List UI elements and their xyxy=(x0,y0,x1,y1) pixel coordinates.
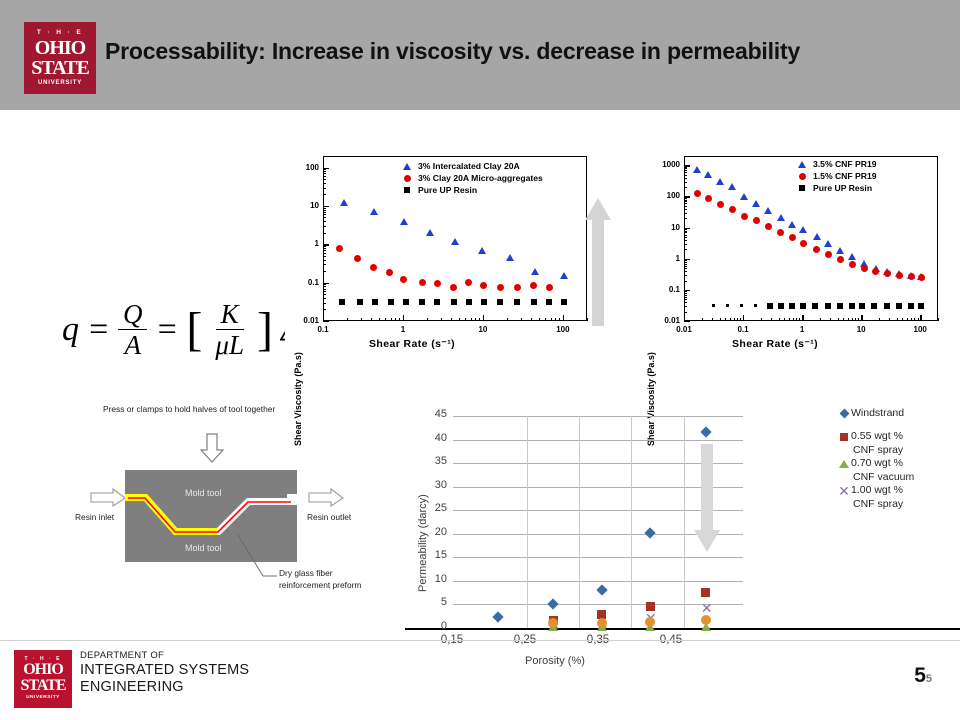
axis-minor-tick xyxy=(684,198,687,199)
chart1-legend-item-1: 3% Clay 20A Micro-aggregates xyxy=(400,172,543,184)
axis-minor-tick xyxy=(918,318,919,321)
axis-minor-tick xyxy=(820,318,821,321)
square-icon xyxy=(400,187,414,193)
mold-tool-label-bottom: Mold tool xyxy=(185,543,222,553)
axis-minor-tick xyxy=(323,303,326,304)
chart3-vertical-tick xyxy=(527,416,528,628)
equation-right-bracket: ] xyxy=(257,302,273,357)
axis-minor-tick xyxy=(897,318,898,321)
axis-tick xyxy=(483,315,484,321)
chart3-legend-item-3: ✕ 1.00 wgt % xyxy=(837,484,957,497)
axis-minor-tick xyxy=(737,318,738,321)
viscosity-cnf-point xyxy=(712,304,715,307)
axis-tick xyxy=(563,315,564,321)
axis-tick xyxy=(684,315,685,321)
axis-minor-tick xyxy=(399,318,400,321)
chart2-legend-label-1: 1.5% CNF PR19 xyxy=(813,171,877,181)
resin-outlet-label: Resin outlet xyxy=(307,512,351,522)
axis-tick xyxy=(743,315,744,321)
viscosity-clay-point xyxy=(514,299,520,305)
viscosity-cnf-x-tick: 10 xyxy=(845,325,877,334)
viscosity-cnf-y-tick: 10 xyxy=(648,223,680,232)
axis-minor-tick xyxy=(323,188,326,189)
viscosity-clay-x-tick: 10 xyxy=(467,325,499,334)
axis-tick xyxy=(861,315,862,321)
chart3-legend-label-1a: 0.55 wgt % xyxy=(851,430,903,443)
viscosity-cnf-point xyxy=(799,226,807,233)
axis-minor-tick xyxy=(545,318,546,321)
axis-minor-tick xyxy=(796,318,797,321)
axis-minor-tick xyxy=(889,318,890,321)
chart3-x-axis xyxy=(405,628,960,630)
axis-minor-tick xyxy=(684,187,687,188)
axis-minor-tick xyxy=(507,318,508,321)
viscosity-cnf-point xyxy=(812,303,818,309)
viscosity-cnf-point xyxy=(741,213,748,220)
axis-minor-tick xyxy=(684,167,687,168)
viscosity-cnf-point xyxy=(849,303,855,309)
chart3-point xyxy=(548,598,559,609)
viscosity-cnf-point xyxy=(693,166,701,173)
viscosity-clay-point xyxy=(514,284,521,291)
chart3-y-tick: 35 xyxy=(421,455,447,467)
axis-minor-tick xyxy=(848,318,849,321)
circle-icon xyxy=(795,173,809,180)
chart1-legend-item-0: 3% Intercalated Clay 20A xyxy=(400,160,543,172)
viscosity-clay-point xyxy=(336,245,343,252)
axis-minor-tick xyxy=(684,200,687,201)
axis-minor-tick xyxy=(684,291,687,292)
viscosity-cnf-point xyxy=(705,195,712,202)
viscosity-cnf-point xyxy=(824,240,832,247)
viscosity-clay-point xyxy=(419,299,425,305)
axis-minor-tick xyxy=(684,206,687,207)
axis-minor-tick xyxy=(684,271,687,272)
viscosity-cnf-point xyxy=(836,247,844,254)
axis-minor-tick xyxy=(684,275,687,276)
chart-viscosity-clay: Shear Viscosity (Pa.s) 3% Intercalated C… xyxy=(285,148,600,363)
viscosity-cnf-point xyxy=(777,214,785,221)
viscosity-clay-point xyxy=(561,299,567,305)
viscosity-clay-point xyxy=(497,284,504,291)
ohio-state-logo: T · H · E OHIO STATE UNIVERSITY xyxy=(24,22,96,94)
equation-fraction-q-over-a: Q A xyxy=(118,300,148,360)
viscosity-clay-point xyxy=(426,229,434,236)
axis-minor-tick xyxy=(684,172,687,173)
chart3-y-tick: 15 xyxy=(421,549,447,561)
viscosity-clay-point xyxy=(530,282,537,289)
viscosity-cnf-point xyxy=(767,303,773,309)
axis-minor-tick xyxy=(451,318,452,321)
chart2-legend-item-2: Pure UP Resin xyxy=(795,182,877,194)
viscosity-clay-point xyxy=(400,218,408,225)
axis-minor-tick xyxy=(902,318,903,321)
viscosity-cnf-x-tick: 0.1 xyxy=(727,325,759,334)
viscosity-clay-point xyxy=(372,299,378,305)
axis-minor-tick xyxy=(684,295,687,296)
viscosity-clay-point xyxy=(400,276,407,283)
chart3-legend-label-3b: CNF spray xyxy=(853,498,957,511)
viscosity-cnf-y-tick: 1000 xyxy=(648,160,680,169)
viscosity-cnf-y-tick: 100 xyxy=(648,191,680,200)
axis-minor-tick xyxy=(559,318,560,321)
axis-minor-tick xyxy=(771,318,772,321)
chart3-y-tick: 45 xyxy=(421,408,447,420)
logo-university: UNIVERSITY xyxy=(38,80,82,86)
axis-tick xyxy=(323,321,329,322)
axis-minor-tick xyxy=(799,318,800,321)
preform-label-line1: Dry glass fiber xyxy=(279,568,333,578)
viscosity-cnf-point xyxy=(896,303,902,309)
viscosity-clay-point xyxy=(478,247,486,254)
page-number-shadow: 5 xyxy=(926,673,932,685)
axis-minor-tick xyxy=(684,235,687,236)
chart3-legend-label-0: Windstrand xyxy=(851,407,904,420)
chart3-vertical-tick xyxy=(684,416,685,628)
viscosity-cnf-point xyxy=(837,256,844,263)
axis-minor-tick xyxy=(323,210,326,211)
viscosity-cnf-y-tick: 0.01 xyxy=(648,316,680,325)
dept-line-1: DEPARTMENT OF xyxy=(80,650,249,661)
chart2-legend-label-2: Pure UP Resin xyxy=(813,183,872,193)
equation-denominator-mul: μL xyxy=(210,330,249,359)
viscosity-cnf-point xyxy=(789,234,796,241)
axis-minor-tick xyxy=(471,318,472,321)
axis-minor-tick xyxy=(323,208,326,209)
viscosity-clay-point xyxy=(451,299,457,305)
chart3-legend-label-1b: CNF spray xyxy=(853,444,957,457)
axis-minor-tick xyxy=(323,156,326,157)
axis-minor-tick xyxy=(830,318,831,321)
chart3-x-axis-title: Porosity (%) xyxy=(525,655,585,667)
footer-logo-state: STATE xyxy=(20,678,65,694)
axis-minor-tick xyxy=(734,318,735,321)
chart1-legend-label-0: 3% Intercalated Clay 20A xyxy=(418,161,520,171)
chart3-y-tick: 5 xyxy=(421,596,447,608)
axis-minor-tick xyxy=(684,168,687,169)
viscosity-cnf-point xyxy=(884,270,891,277)
x-marker-icon: ✕ xyxy=(837,484,851,497)
viscosity-clay-point xyxy=(546,284,553,291)
chart2-x-axis-title: Shear Rate (s⁻¹) xyxy=(732,338,818,350)
axis-minor-tick xyxy=(684,218,687,219)
axis-minor-tick xyxy=(761,318,762,321)
viscosity-cnf-point xyxy=(825,251,832,258)
viscosity-cnf-point xyxy=(740,304,743,307)
preform-label-line2: reinforcement preform xyxy=(279,580,361,590)
chart1-legend-label-2: Pure UP Resin xyxy=(418,185,477,195)
equation-fraction-k-over-mul: K μL xyxy=(210,300,249,360)
viscosity-cnf-point xyxy=(704,171,712,178)
viscosity-cnf-point xyxy=(859,303,865,309)
axis-minor-tick xyxy=(361,318,362,321)
axis-minor-tick xyxy=(684,203,687,204)
clamp-arrow-icon xyxy=(201,434,223,462)
axis-minor-tick xyxy=(702,318,703,321)
axis-minor-tick xyxy=(852,318,853,321)
axis-minor-tick xyxy=(684,178,687,179)
axis-minor-tick xyxy=(793,318,794,321)
chart3-legend-label-2a: 0.70 wgt % xyxy=(851,457,903,470)
axis-minor-tick xyxy=(323,260,326,261)
chart3-legend-item-1: 0.55 wgt % xyxy=(837,430,957,443)
axis-minor-tick xyxy=(684,229,687,230)
axis-tick xyxy=(403,315,404,321)
axis-minor-tick xyxy=(323,256,326,257)
viscosity-clay-point xyxy=(481,299,487,305)
viscosity-cnf-x-tick: 0.01 xyxy=(668,325,700,334)
chart3-legend-label-2b: CNF vacuum xyxy=(853,471,957,484)
axis-minor-tick xyxy=(684,306,687,307)
axis-minor-tick xyxy=(684,268,687,269)
viscosity-clay-point xyxy=(434,299,440,305)
axis-minor-tick xyxy=(391,318,392,321)
viscosity-cnf-point xyxy=(789,303,795,309)
chart1-legend-item-2: Pure UP Resin xyxy=(400,184,543,196)
chart3-legend: Windstrand 0.55 wgt % CNF spray 0.70 wgt… xyxy=(837,407,957,511)
axis-minor-tick xyxy=(323,226,326,227)
axis-minor-tick xyxy=(379,318,380,321)
department-name: DEPARTMENT OF INTEGRATED SYSTEMS ENGINEE… xyxy=(80,650,249,695)
viscosity-cnf-point xyxy=(729,206,736,213)
chart3-y-tick: 30 xyxy=(421,479,447,491)
viscosity-clay-point xyxy=(434,280,441,287)
viscosity-clay-y-tick: 0.1 xyxy=(287,278,319,287)
chart-viscosity-cnf: Shear Viscosity (Pa.s) 3.5% CNF PR19 1.5… xyxy=(640,148,955,363)
equation-left-bracket: [ xyxy=(186,302,202,357)
viscosity-cnf-point xyxy=(884,303,890,309)
axis-minor-tick xyxy=(323,309,326,310)
viscosity-cnf-point xyxy=(800,240,807,247)
equation-equals-1: = xyxy=(87,311,110,349)
viscosity-clay-point xyxy=(560,272,568,279)
viscosity-cnf-point xyxy=(837,303,843,309)
axis-tick xyxy=(802,315,803,321)
axis-minor-tick xyxy=(459,318,460,321)
chart1-legend-label-1: 3% Clay 20A Micro-aggregates xyxy=(418,173,543,183)
axis-minor-tick xyxy=(914,318,915,321)
chart3-y-tick: 20 xyxy=(421,526,447,538)
axis-minor-tick xyxy=(684,297,687,298)
chart3-legend-item-0: Windstrand xyxy=(837,407,957,420)
axis-minor-tick xyxy=(323,284,326,285)
triangle-icon xyxy=(400,163,414,170)
square-icon xyxy=(837,430,851,443)
rtm-mold-diagram: Press or clamps to hold halves of tool t… xyxy=(55,398,400,633)
chart3-point xyxy=(701,588,710,597)
chart3-point xyxy=(644,528,655,539)
equation-denominator-a: A xyxy=(119,330,146,359)
viscosity-cnf-y-tick: 0.1 xyxy=(648,285,680,294)
viscosity-cnf-point xyxy=(861,265,868,272)
axis-minor-tick xyxy=(684,240,687,241)
viscosity-clay-point xyxy=(531,299,537,305)
ohio-state-logo-footer: T · H · E OHIO STATE UNIVERSITY xyxy=(14,650,72,708)
axis-minor-tick xyxy=(784,318,785,321)
axis-minor-tick xyxy=(684,237,687,238)
axis-minor-tick xyxy=(475,318,476,321)
viscosity-clay-y-tick: 1 xyxy=(287,239,319,248)
axis-minor-tick xyxy=(684,293,687,294)
chart1-legend: 3% Intercalated Clay 20A 3% Clay 20A Mic… xyxy=(400,160,543,196)
viscosity-cnf-point xyxy=(872,268,879,275)
chart2-x-axis-unit: (s⁻¹) xyxy=(794,338,818,350)
chart3-point xyxy=(700,426,711,437)
axis-minor-tick xyxy=(323,179,326,180)
axis-minor-tick xyxy=(427,318,428,321)
axis-minor-tick xyxy=(684,299,687,300)
resin-inlet-label: Resin inlet xyxy=(75,512,114,522)
viscosity-cnf-x-tick: 1 xyxy=(786,325,818,334)
axis-tick xyxy=(684,259,690,260)
dept-line-2: INTEGRATED SYSTEMS xyxy=(80,662,249,678)
axis-minor-tick xyxy=(465,318,466,321)
axis-minor-tick xyxy=(323,248,326,249)
viscosity-clay-point xyxy=(370,208,378,215)
axis-minor-tick xyxy=(740,318,741,321)
viscosity-clay-point xyxy=(465,279,472,286)
axis-minor-tick xyxy=(684,232,687,233)
chart3-gridline xyxy=(453,557,743,558)
square-icon xyxy=(795,185,809,191)
axis-minor-tick xyxy=(843,318,844,321)
viscosity-cnf-point xyxy=(754,304,757,307)
axis-minor-tick xyxy=(720,318,721,321)
chart3-gridline xyxy=(453,416,743,417)
logo-the: T · H · E xyxy=(37,30,83,37)
slide-header: T · H · E OHIO STATE UNIVERSITY Processa… xyxy=(0,0,960,110)
axis-minor-tick xyxy=(385,318,386,321)
axis-minor-tick xyxy=(684,209,687,210)
axis-minor-tick xyxy=(838,318,839,321)
chart3-vertical-tick xyxy=(631,416,632,628)
axis-minor-tick xyxy=(684,260,687,261)
axis-minor-tick xyxy=(684,281,687,282)
axis-minor-tick xyxy=(858,318,859,321)
viscosity-cnf-point xyxy=(825,303,831,309)
page-title: Processability: Increase in viscosity vs… xyxy=(105,38,950,65)
viscosity-clay-point xyxy=(450,284,457,291)
axis-minor-tick xyxy=(323,212,326,213)
axis-minor-tick xyxy=(712,318,713,321)
chart1-x-axis-title: Shear Rate (s⁻¹) xyxy=(369,338,455,350)
chart3-y-tick: 10 xyxy=(421,573,447,585)
axis-minor-tick xyxy=(684,231,687,232)
axis-minor-tick xyxy=(684,170,687,171)
chart3-point xyxy=(492,611,503,622)
viscosity-cnf-point xyxy=(726,304,729,307)
chart3-gridline xyxy=(453,440,743,441)
equation-q: q xyxy=(62,311,79,349)
equation-numerator-q: Q xyxy=(118,300,148,330)
axis-minor-tick xyxy=(323,221,326,222)
axis-minor-tick xyxy=(323,169,326,170)
axis-minor-tick xyxy=(684,175,687,176)
axis-minor-tick xyxy=(789,318,790,321)
axis-minor-tick xyxy=(371,318,372,321)
axis-minor-tick xyxy=(879,318,880,321)
axis-minor-tick xyxy=(730,318,731,321)
viscosity-clay-point xyxy=(403,299,409,305)
viscosity-clay-point xyxy=(506,254,514,261)
chart3-vertical-tick xyxy=(579,416,580,628)
axis-minor-tick xyxy=(323,173,326,174)
viscosity-cnf-x-tick: 100 xyxy=(904,325,936,334)
equation-numerator-k: K xyxy=(216,300,244,330)
viscosity-clay-point xyxy=(466,299,472,305)
axis-minor-tick xyxy=(347,318,348,321)
viscosity-clay-point xyxy=(480,282,487,289)
axis-minor-tick xyxy=(323,291,326,292)
viscosity-clay-point xyxy=(386,269,393,276)
axis-minor-tick xyxy=(323,233,326,234)
viscosity-clay-point xyxy=(370,264,377,271)
viscosity-cnf-point xyxy=(740,193,748,200)
viscosity-clay-point xyxy=(339,299,345,305)
axis-minor-tick xyxy=(323,264,326,265)
axis-tick xyxy=(684,196,690,197)
chart-permeability-porosity: Permeability (darcy) ✕✕✕✕ 0,15 0,25 0,35… xyxy=(405,402,960,667)
chart3-point xyxy=(701,615,711,625)
viscosity-cnf-point xyxy=(694,190,701,197)
axis-tick xyxy=(684,228,690,229)
axis-minor-tick xyxy=(479,318,480,321)
diamond-icon xyxy=(837,407,851,420)
axis-tick xyxy=(920,315,921,321)
logo-ohio: OHIO xyxy=(35,38,85,58)
viscosity-clay-point xyxy=(340,199,348,206)
axis-tick xyxy=(323,283,329,284)
axis-minor-tick xyxy=(323,217,326,218)
axis-tick xyxy=(323,206,329,207)
chart3-legend-label-3a: 1.00 wgt % xyxy=(851,484,903,497)
viscosity-increase-arrow-icon xyxy=(585,198,611,331)
viscosity-cnf-point xyxy=(800,303,806,309)
axis-minor-tick xyxy=(323,289,326,290)
chart3-point xyxy=(597,618,607,628)
viscosity-cnf-point xyxy=(764,207,772,214)
axis-minor-tick xyxy=(779,318,780,321)
equation-equals-2: = xyxy=(155,311,178,349)
axis-minor-tick xyxy=(323,286,326,287)
axis-minor-tick xyxy=(323,246,326,247)
axis-minor-tick xyxy=(684,182,687,183)
resin-outlet-arrow-icon xyxy=(309,489,343,506)
viscosity-cnf-point xyxy=(908,303,914,309)
axis-minor-tick xyxy=(855,318,856,321)
axis-minor-tick xyxy=(323,253,326,254)
viscosity-cnf-point xyxy=(765,223,772,230)
axis-minor-tick xyxy=(684,312,687,313)
axis-minor-tick xyxy=(684,156,687,157)
axis-tick xyxy=(323,244,329,245)
viscosity-cnf-y-tick: 1 xyxy=(648,254,680,263)
chart1-x-axis-unit: (s⁻¹) xyxy=(431,338,455,350)
chart3-plot-area: ✕✕✕✕ xyxy=(453,416,743,628)
viscosity-cnf-point xyxy=(848,253,856,260)
viscosity-clay-point xyxy=(497,299,503,305)
axis-minor-tick xyxy=(395,318,396,321)
resin-inlet-arrow-icon xyxy=(91,489,125,506)
axis-minor-tick xyxy=(684,244,687,245)
axis-minor-tick xyxy=(555,318,556,321)
viscosity-cnf-point xyxy=(908,273,915,280)
permeability-decrease-arrow-icon xyxy=(694,444,720,557)
chart1-x-axis-title-text: Shear Rate xyxy=(369,338,428,350)
viscosity-clay-x-tick: 100 xyxy=(547,325,579,334)
axis-minor-tick xyxy=(684,249,687,250)
page-number-value: 5 xyxy=(914,664,926,687)
